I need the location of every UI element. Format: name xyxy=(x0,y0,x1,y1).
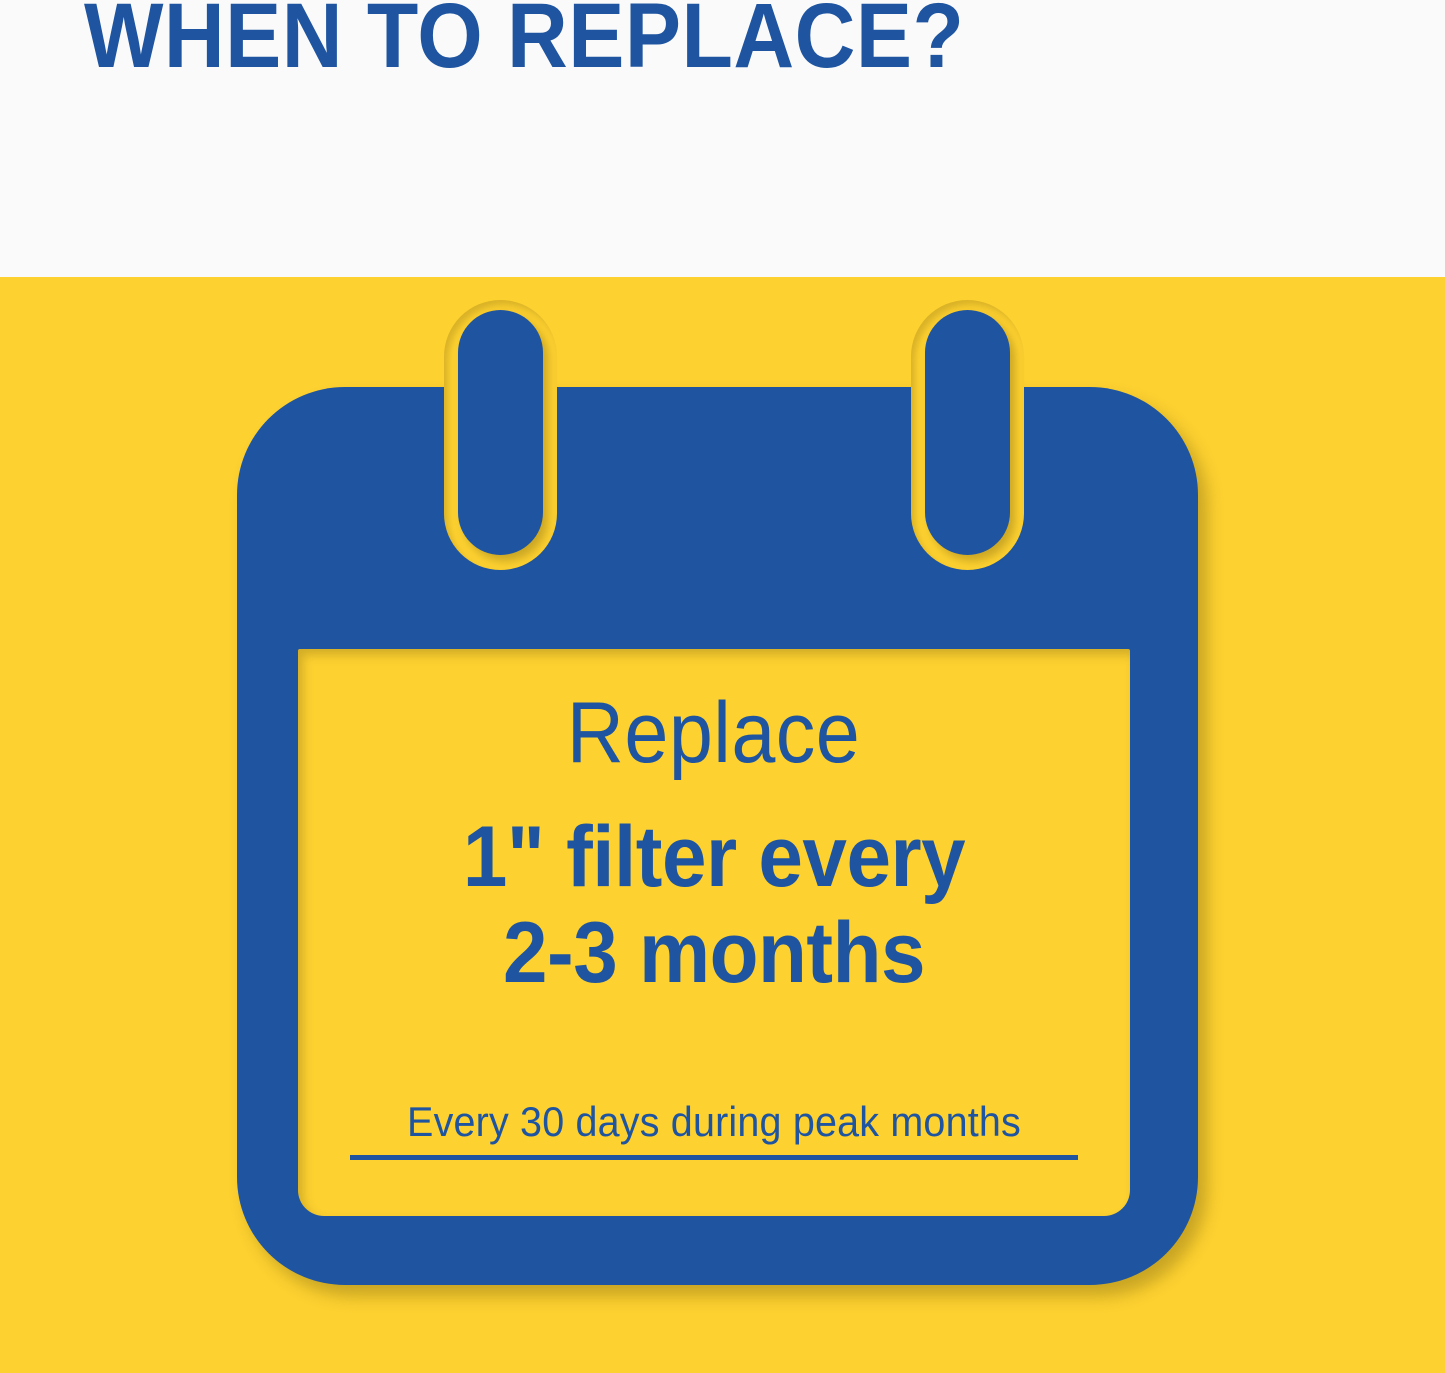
replace-note-block: Every 30 days during peak months xyxy=(350,1097,1078,1160)
replace-eyebrow: Replace xyxy=(567,687,861,779)
calendar-ring-left-front xyxy=(458,310,543,555)
calendar-ring-right-front xyxy=(925,310,1010,555)
note-underline xyxy=(350,1155,1078,1160)
replace-note: Every 30 days during peak months xyxy=(372,1097,1056,1147)
page-title: WHEN TO REPLACE? xyxy=(84,0,964,86)
headline-line-1: 1" filter every xyxy=(463,809,965,905)
calendar-icon: Replace 1" filter every 2-3 months Every… xyxy=(237,310,1198,1285)
header-band: WHEN TO REPLACE? xyxy=(0,0,1445,277)
replace-headline: 1" filter every 2-3 months xyxy=(444,809,984,1001)
content-panel: Replace 1" filter every 2-3 months Every… xyxy=(0,277,1445,1373)
headline-line-2: 2-3 months xyxy=(463,905,965,1001)
infographic-root: WHEN TO REPLACE? Replace 1" filter every… xyxy=(0,0,1445,1373)
calendar-page: Replace 1" filter every 2-3 months Every… xyxy=(298,649,1130,1216)
